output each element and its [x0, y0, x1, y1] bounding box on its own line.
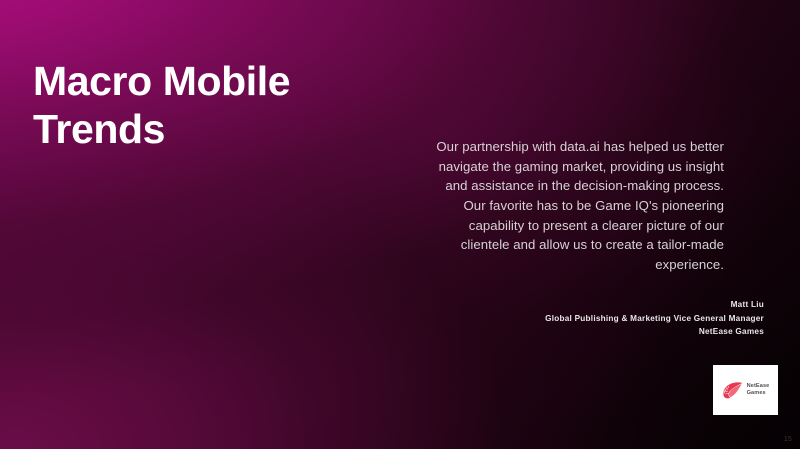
page-title: Macro Mobile Trends: [33, 58, 463, 153]
netease-comet-icon: [722, 381, 744, 399]
attribution-name: Matt Liu: [344, 298, 764, 312]
attribution-role: Global Publishing & Marketing Vice Gener…: [344, 312, 764, 326]
logo-line-2: Games: [747, 390, 770, 397]
attribution-company: NetEase Games: [344, 325, 764, 339]
netease-games-logo: NetEase Games: [713, 365, 778, 415]
page-number: 15: [784, 436, 792, 443]
quote-attribution: Matt Liu Global Publishing & Marketing V…: [344, 298, 764, 339]
customer-quote: Our partnership with data.ai has helped …: [424, 137, 724, 274]
logo-line-1: NetEase: [747, 383, 770, 390]
slide-canvas: Macro Mobile Trends Our partnership with…: [0, 0, 800, 449]
logo-wordmark: NetEase Games: [747, 383, 770, 397]
